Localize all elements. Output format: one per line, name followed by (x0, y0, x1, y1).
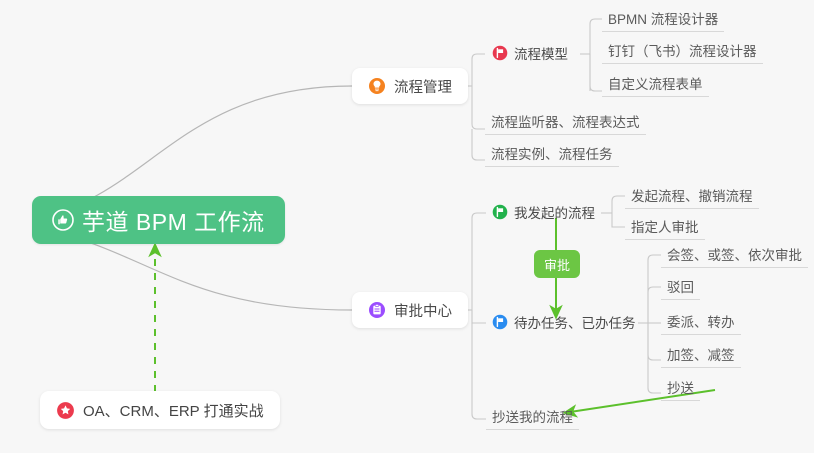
leaf-bpmn-designer[interactable]: BPMN 流程设计器 (602, 8, 724, 32)
node-label-my-initiated-processes: 我发起的流程 (514, 202, 595, 222)
branch-label-process-management: 流程管理 (394, 76, 452, 97)
star-icon (56, 401, 75, 420)
leaf-label: 加签、减签 (667, 344, 735, 364)
leaf-label: 会签、或签、依次审批 (667, 244, 802, 264)
leaf-label: 流程监听器、流程表达式 (491, 111, 640, 131)
root-node[interactable]: 芋道 BPM 工作流 (32, 196, 285, 244)
leaf-label: 抄送我的流程 (492, 406, 573, 426)
branch-label-approval-center: 审批中心 (394, 300, 452, 321)
leaf-dingtalk-feishu-designer[interactable]: 钉钉（飞书）流程设计器 (602, 40, 763, 64)
node-todo-done-tasks[interactable]: 待办任务、已办任务 (492, 311, 640, 335)
leaf-countersign-orsign-sequential[interactable]: 会签、或签、依次审批 (661, 244, 808, 268)
node-label-process-model: 流程模型 (514, 43, 568, 63)
flag-icon (492, 204, 508, 220)
leaf-label: 驳回 (667, 276, 694, 296)
node-my-initiated-processes[interactable]: 我发起的流程 (492, 201, 599, 225)
leaf-custom-process-form[interactable]: 自定义流程表单 (602, 73, 709, 97)
leaf-assignee-approval[interactable]: 指定人审批 (625, 216, 705, 240)
note-label: OA、CRM、ERP 打通实战 (83, 400, 264, 421)
clipboard-icon (368, 301, 386, 319)
flag-icon (492, 45, 508, 61)
leaf-label: 委派、转办 (667, 311, 735, 331)
tag-label: 审批 (544, 255, 570, 274)
lightbulb-icon (368, 77, 386, 95)
thumbs-up-icon (52, 209, 74, 231)
leaf-label: 抄送 (667, 377, 694, 397)
flag-icon (492, 314, 508, 330)
node-label-todo-done-tasks: 待办任务、已办任务 (514, 312, 636, 332)
leaf-label: 钉钉（飞书）流程设计器 (608, 40, 757, 60)
leaf-process-instance-task[interactable]: 流程实例、流程任务 (485, 143, 619, 167)
leaf-label: BPMN 流程设计器 (608, 8, 718, 28)
mindmap-canvas: 芋道 BPM 工作流 流程管理 流程模型 BPMN 流程设计器 钉钉（飞书）流程… (0, 0, 814, 453)
branch-node-approval-center[interactable]: 审批中心 (352, 292, 468, 328)
leaf-reject[interactable]: 驳回 (661, 276, 700, 300)
leaf-label: 发起流程、撤销流程 (631, 185, 753, 205)
root-label: 芋道 BPM 工作流 (82, 203, 265, 237)
node-process-model[interactable]: 流程模型 (492, 42, 572, 66)
tag-approval[interactable]: 审批 (534, 250, 580, 278)
leaf-add-remove-sign[interactable]: 加签、减签 (661, 344, 741, 368)
leaf-start-cancel-process[interactable]: 发起流程、撤销流程 (625, 185, 759, 209)
note-node-integration[interactable]: OA、CRM、ERP 打通实战 (40, 391, 280, 429)
leaf-cc[interactable]: 抄送 (661, 377, 700, 401)
leaf-label: 自定义流程表单 (608, 73, 703, 93)
leaf-delegate-transfer[interactable]: 委派、转办 (661, 311, 741, 335)
leaf-label: 流程实例、流程任务 (491, 143, 613, 163)
leaf-cc-to-me-processes[interactable]: 抄送我的流程 (486, 406, 579, 430)
branch-node-process-management[interactable]: 流程管理 (352, 68, 468, 104)
leaf-label: 指定人审批 (631, 216, 699, 236)
leaf-process-listener-expression[interactable]: 流程监听器、流程表达式 (485, 111, 646, 135)
